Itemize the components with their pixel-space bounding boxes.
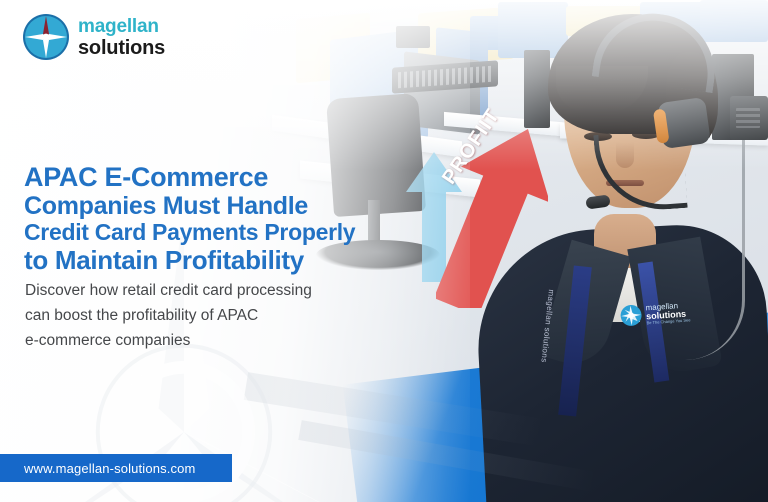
headset-cable: [680, 140, 745, 360]
headline-line-3: Credit Card Payments Properly: [24, 220, 424, 246]
subheadline-line-1: Discover how retail credit card processi…: [25, 278, 405, 303]
headline-line-2: Companies Must Handle: [24, 192, 424, 220]
logo-word-magellan: magellan: [78, 17, 165, 36]
chest-logo-line-3: Be The Change You See: [647, 318, 691, 325]
marketing-banner: magellan solutions magellan solutions Be…: [0, 0, 768, 502]
headline-block: APAC E-Commerce Companies Must Handle Cr…: [24, 162, 424, 275]
website-url-bar[interactable]: www.magellan-solutions.com: [0, 454, 232, 482]
compass-star-icon: [619, 304, 642, 327]
logo-wordmark: magellan solutions: [78, 17, 165, 58]
headset-microphone: [585, 194, 610, 209]
jacket-chest-logo: magellan solutions Be The Change You See: [619, 295, 713, 331]
subheadline-line-2: can boost the profitability of APAC: [25, 303, 405, 328]
subheadline-block: Discover how retail credit card processi…: [25, 278, 405, 353]
headline-line-4: to Maintain Profitability: [24, 246, 424, 275]
chest-logo-text: magellan solutions Be The Change You See: [645, 301, 690, 325]
website-url-text: www.magellan-solutions.com: [0, 461, 196, 476]
subheadline-line-3: e-commerce companies: [25, 328, 405, 353]
headline-line-1: APAC E-Commerce: [24, 162, 424, 192]
logo-word-solutions: solutions: [78, 38, 165, 58]
compass-star-icon: [22, 13, 70, 61]
magellan-solutions-logo[interactable]: magellan solutions: [22, 13, 165, 61]
